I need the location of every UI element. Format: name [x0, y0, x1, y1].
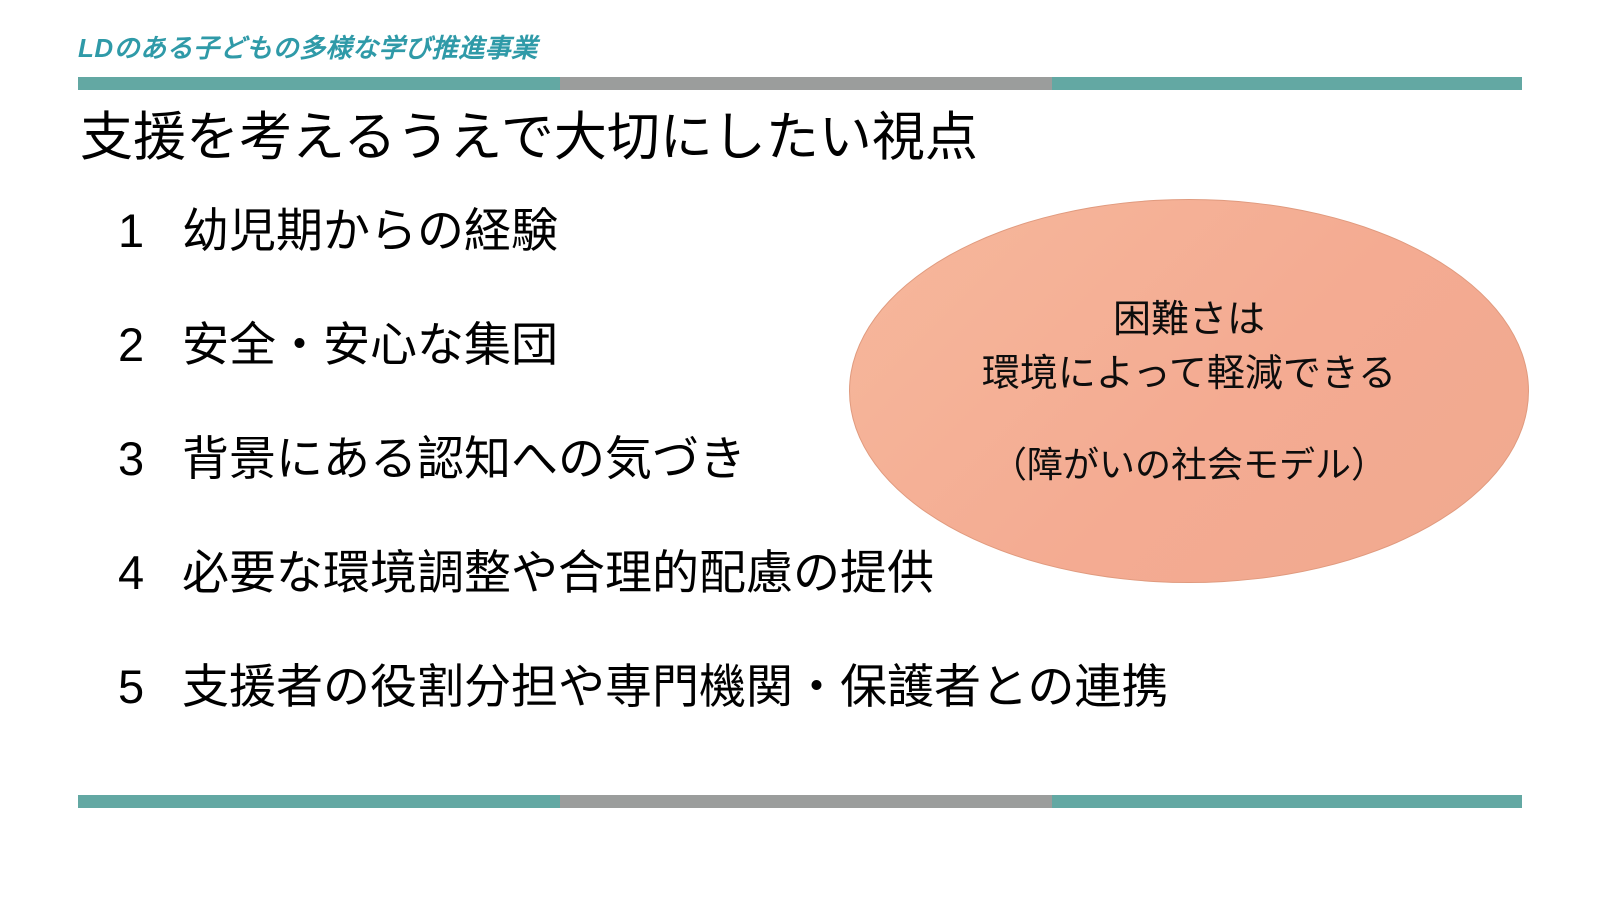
list-item-number: 2 — [118, 319, 148, 371]
callout-line-1: 困難さは — [982, 294, 1396, 348]
page-title: 支援を考えるうえで大切にしたい視点 — [80, 108, 978, 169]
list-item-label: 背景にある認知への気づき — [182, 433, 746, 485]
slide-canvas: LDのある子どもの多様な学び推進事業 支援を考えるうえで大切にしたい視点 1 幼… — [0, 0, 1600, 900]
callout-sub-text: （障がいの社会モデル） — [991, 442, 1387, 489]
rule-segment-gray — [560, 77, 1052, 90]
list-item-number: 3 — [118, 433, 148, 485]
rule-segment-teal-right — [1052, 77, 1522, 90]
callout-line-2: 環境によって軽減できる — [982, 348, 1396, 402]
rule-segment-gray — [560, 795, 1052, 808]
top-decorative-rule — [78, 77, 1522, 90]
rule-segment-teal-left — [78, 795, 560, 808]
list-item-label: 必要な環境調整や合理的配慮の提供 — [182, 547, 934, 599]
callout-ellipse: 困難さは 環境によって軽減できる （障がいの社会モデル） — [849, 199, 1529, 583]
rule-segment-teal-right — [1052, 795, 1522, 808]
list-item-number: 1 — [118, 205, 148, 257]
list-item: 5 支援者の役割分担や専門機関・保護者との連携 — [118, 661, 1298, 775]
bottom-decorative-rule — [78, 795, 1522, 808]
list-item-number: 5 — [118, 661, 148, 713]
rule-segment-teal-left — [78, 77, 560, 90]
list-item-label: 安全・安心な集団 — [182, 319, 558, 371]
list-item-label: 支援者の役割分担や専門機関・保護者との連携 — [182, 661, 1169, 713]
header-kicker: LDのある子どもの多様な学び推進事業 — [78, 28, 538, 65]
list-item-number: 4 — [118, 547, 148, 599]
callout-main-text: 困難さは 環境によって軽減できる — [982, 294, 1396, 402]
list-item-label: 幼児期からの経験 — [182, 205, 558, 257]
